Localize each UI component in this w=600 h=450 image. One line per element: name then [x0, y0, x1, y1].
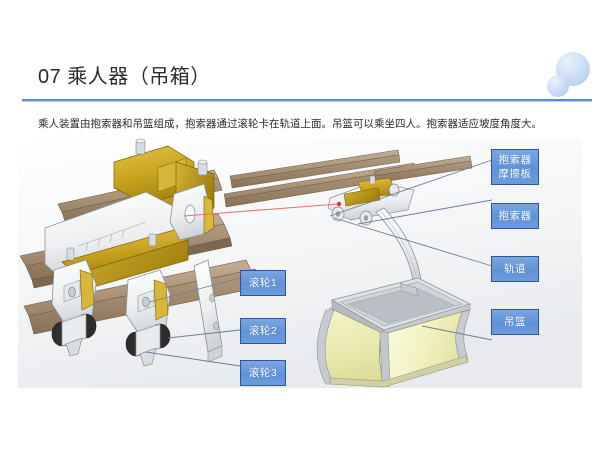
- callout-grip[interactable]: 抱索器: [491, 203, 539, 229]
- callout-label: 抱索器 摩擦板: [499, 153, 532, 181]
- callout-track[interactable]: 轨道: [491, 256, 539, 282]
- title-divider-shadow: [22, 101, 592, 102]
- callout-label: 滚轮3: [249, 367, 277, 380]
- slide-canvas: 07 乘人器（吊箱） 乘人装置由抱索器和吊篮组成，抱索器通过滚轮卡在轨道上面。吊…: [0, 0, 600, 450]
- callout-gondola[interactable]: 吊篮: [491, 309, 539, 335]
- callout-label: 滚轮1: [249, 277, 277, 290]
- callout-roller-1[interactable]: 滚轮1: [240, 270, 286, 296]
- callout-grip-friction-plate[interactable]: 抱索器 摩擦板: [491, 149, 539, 185]
- small-blue-circle-icon: [547, 75, 569, 97]
- callout-label: 抱索器: [499, 210, 532, 223]
- callout-roller-2[interactable]: 滚轮2: [240, 318, 286, 344]
- callout-label: 滚轮2: [249, 325, 277, 338]
- callout-label: 轨道: [504, 263, 526, 276]
- callout-label: 吊篮: [504, 316, 526, 329]
- description-text: 乘人装置由抱索器和吊篮组成，抱索器通过滚轮卡在轨道上面。吊篮可以乘坐四人。抱索器…: [38, 117, 578, 131]
- page-title: 07 乘人器（吊箱）: [38, 60, 211, 89]
- callout-roller-3[interactable]: 滚轮3: [240, 360, 286, 386]
